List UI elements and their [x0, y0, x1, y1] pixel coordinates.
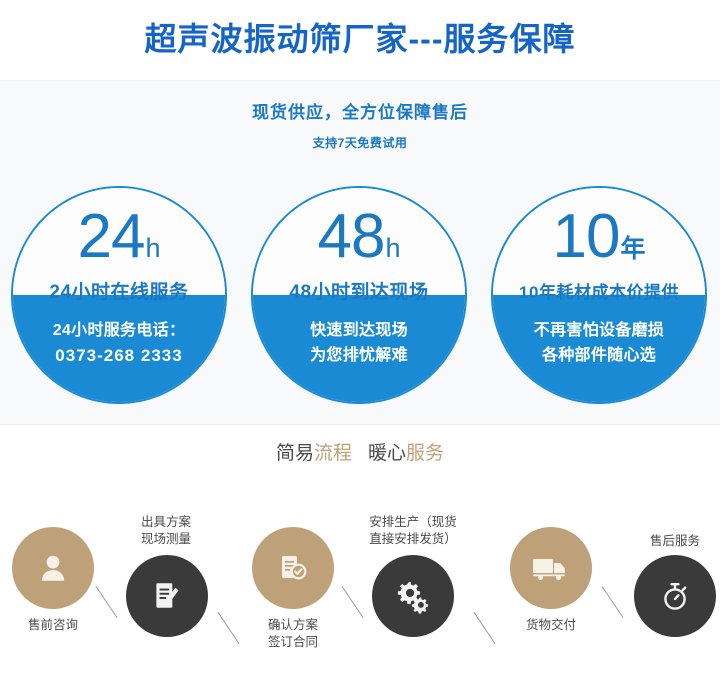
document-pen-icon	[126, 555, 208, 637]
flow-step-label-line-1: 安排生产（现货	[338, 514, 488, 531]
process-section-heading: 简易流程暖心服务	[0, 440, 720, 468]
guarantee-badge-48h: 48h 48小时到达现场 快速到达现场 为您排忧解难	[251, 186, 467, 404]
badge-number-unit: 年	[620, 235, 645, 263]
flow-arrow-3	[341, 586, 363, 618]
person-icon	[12, 527, 94, 609]
guarantee-badge-group: 24h 24小时在线服务 24小时服务电话： 0373-268 2333 48h…	[0, 186, 720, 404]
section-divider	[0, 424, 720, 425]
flow-step-label-line-1: 售前咨询	[0, 617, 123, 634]
page-title: 超声波振动筛厂家---服务保障	[0, 17, 720, 61]
badge-detail: 快速到达现场 为您排忧解难	[253, 318, 465, 368]
flow-step-label: 货物交付	[481, 617, 621, 634]
badge-number-unit: h	[385, 233, 400, 263]
flow-arrow-5	[601, 586, 623, 618]
flow-step-label: 售后服务	[605, 533, 720, 550]
badge-number-unit: h	[145, 233, 160, 263]
badge-number-value: 48	[318, 202, 385, 271]
flow-step-label: 售前咨询	[0, 617, 123, 634]
badge-number: 24h	[13, 206, 225, 268]
badge-number-value: 10	[553, 202, 620, 271]
flow-step-after-sales-service: 售后服务	[634, 555, 716, 637]
badge-detail-line-1: 24小时服务电话：	[13, 318, 225, 343]
flow-step-label-line-2: 签订合同	[223, 634, 363, 651]
stopwatch-icon	[634, 555, 716, 637]
flow-step-arrange-production: 安排生产（现货 直接安排发货）	[372, 555, 454, 637]
flow-step-confirm-contract: 确认方案 签订合同	[252, 527, 334, 609]
guarantee-badge-10year: 10年 10年耗材成本价提供 不再害怕设备磨损 各种部件随心选	[491, 186, 707, 404]
flow-step-label-line-1: 出具方案	[96, 514, 236, 531]
process-flow: 售前咨询 出具方案 现场测量	[0, 505, 720, 689]
badge-detail: 不再害怕设备磨损 各种部件随心选	[493, 318, 705, 368]
service-guarantee-banner: 超声波振动筛厂家---服务保障 现货供应，全方位保障售后 支持7天免费试用 24…	[0, 0, 720, 689]
subtitle-primary: 现货供应，全方位保障售后	[0, 101, 720, 125]
badge-detail-line-1: 快速到达现场	[253, 318, 465, 343]
guarantee-badge-24h: 24h 24小时在线服务 24小时服务电话： 0373-268 2333	[11, 186, 227, 404]
badge-number: 48h	[253, 206, 465, 268]
flow-arrow-1	[95, 586, 117, 618]
badge-caption: 10年耗材成本价提供	[493, 280, 705, 306]
badge-caption: 24小时在线服务	[13, 280, 225, 306]
heading-part-2-dark: 暖心	[368, 443, 406, 464]
badge-detail: 24小时服务电话： 0373-268 2333	[13, 318, 225, 368]
flow-step-proposal-measurement: 出具方案 现场测量	[126, 555, 208, 637]
flow-step-label-line-1: 货物交付	[481, 617, 621, 634]
heading-part-1-gold: 流程	[314, 443, 352, 464]
badge-detail-line-1: 不再害怕设备磨损	[493, 318, 705, 343]
badge-detail-line-2: 0373-268 2333	[13, 343, 225, 368]
gears-icon	[372, 555, 454, 637]
heading-part-1-dark: 简易	[276, 443, 314, 464]
flow-step-label-line-2: 直接安排发货）	[338, 531, 488, 548]
flow-step-label: 确认方案 签订合同	[223, 617, 363, 651]
flow-step-presales-consulting: 售前咨询	[12, 527, 94, 609]
subtitle-secondary: 支持7天免费试用	[0, 134, 720, 152]
checklist-icon	[252, 527, 334, 609]
badge-detail-line-2: 为您排忧解难	[253, 343, 465, 368]
flow-step-label-line-1: 售后服务	[605, 533, 720, 550]
badge-caption: 48小时到达现场	[253, 280, 465, 306]
badge-detail-line-2: 各种部件随心选	[493, 343, 705, 368]
flow-step-label-line-2: 现场测量	[96, 531, 236, 548]
flow-step-goods-delivery: 货物交付	[510, 527, 592, 609]
badge-number-value: 24	[78, 202, 145, 271]
flow-step-label-line-1: 确认方案	[223, 617, 363, 634]
heading-part-2-gold: 服务	[406, 443, 444, 464]
flow-step-label: 安排生产（现货 直接安排发货）	[338, 514, 488, 548]
truck-icon	[510, 527, 592, 609]
flow-step-label: 出具方案 现场测量	[96, 514, 236, 548]
badge-number: 10年	[493, 206, 705, 268]
